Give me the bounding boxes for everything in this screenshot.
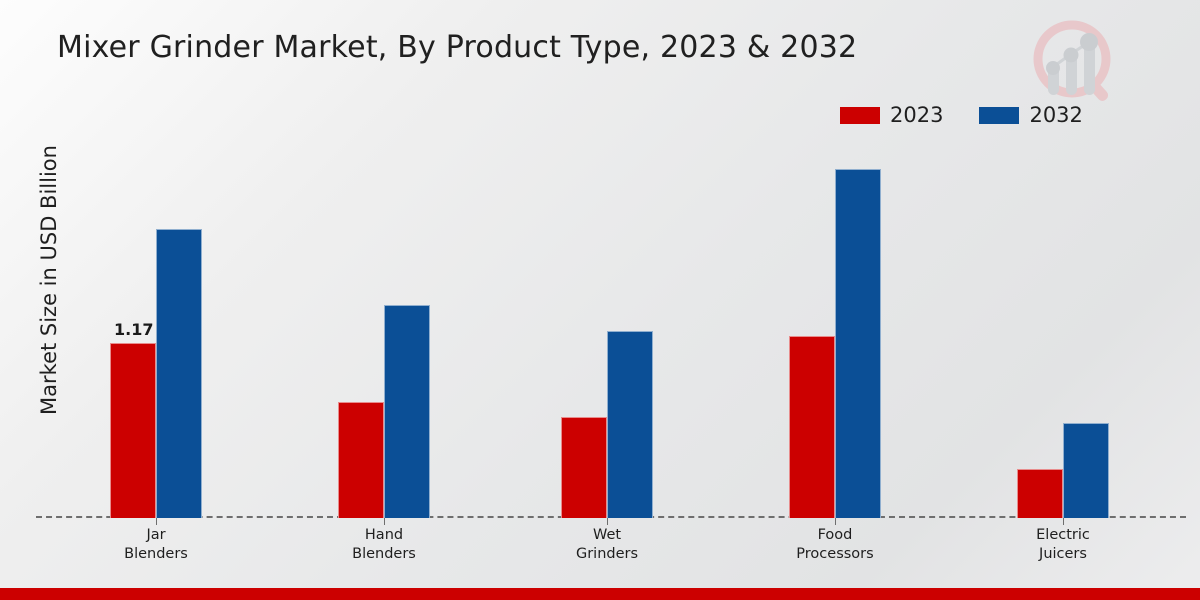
bars-4 xyxy=(1017,423,1109,519)
bottom-accent-band xyxy=(0,588,1200,600)
bar-2032-1[interactable] xyxy=(384,305,430,518)
category-label-2: Wet Grinders xyxy=(547,526,667,564)
bar-2023-4[interactable] xyxy=(1017,469,1063,518)
bar-value-label-0: 1.17 xyxy=(114,320,153,339)
legend-item-2032[interactable]: 2032 xyxy=(979,103,1082,127)
bar-2023-0[interactable] xyxy=(110,343,156,518)
bar-2032-2[interactable] xyxy=(607,331,653,518)
bar-2023-3[interactable] xyxy=(789,336,835,518)
bars-3 xyxy=(789,169,881,518)
bar-2032-4[interactable] xyxy=(1063,423,1109,519)
chart-title: Mixer Grinder Market, By Product Type, 2… xyxy=(57,30,857,65)
category-label-3: Food Processors xyxy=(775,526,895,564)
bar-2023-2[interactable] xyxy=(561,417,607,518)
category-label-4: Electric Juicers xyxy=(1003,526,1123,564)
x-tick-1 xyxy=(384,518,385,525)
legend-label-2032: 2032 xyxy=(1029,103,1082,127)
category-label-1: Hand Blenders xyxy=(324,526,444,564)
x-tick-3 xyxy=(835,518,836,525)
category-label-0: Jar Blenders xyxy=(96,526,216,564)
legend-item-2023[interactable]: 2023 xyxy=(840,103,943,127)
legend-label-2023: 2023 xyxy=(890,103,943,127)
bar-2032-0[interactable] xyxy=(156,229,202,519)
chart-page: Mixer Grinder Market, By Product Type, 2… xyxy=(0,0,1200,600)
bars-2 xyxy=(561,331,653,518)
x-tick-0 xyxy=(156,518,157,525)
legend-swatch-2023 xyxy=(840,107,880,124)
chart-legend: 2023 2032 xyxy=(840,103,1083,127)
bar-2023-1[interactable] xyxy=(338,402,384,518)
bars-0 xyxy=(110,229,202,519)
legend-swatch-2032 xyxy=(979,107,1019,124)
bars-1 xyxy=(338,305,430,518)
bar-2032-3[interactable] xyxy=(835,169,881,518)
x-tick-4 xyxy=(1063,518,1064,525)
x-tick-2 xyxy=(607,518,608,525)
plot-area: 1.17 Jar Blenders Hand Blenders Wet Grin… xyxy=(36,130,1186,518)
